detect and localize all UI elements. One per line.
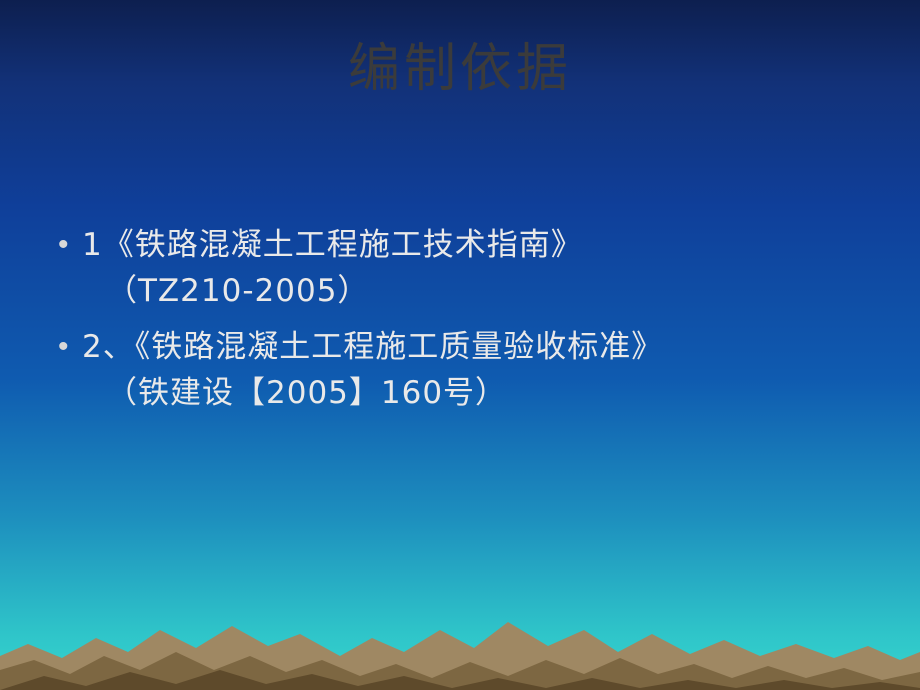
list-item: • 2、《铁路混凝土工程施工质量验收标准》 （铁建设【2005】160号） (44, 324, 894, 416)
bullet-list: • 1《铁路混凝土工程施工技术指南》 （TZ210-2005） • 2、《铁路混… (44, 222, 894, 426)
list-item-text: 1《铁路混凝土工程施工技术指南》 （TZ210-2005） (82, 222, 894, 314)
list-item-text: 2、《铁路混凝土工程施工质量验收标准》 （铁建设【2005】160号） (82, 324, 894, 416)
page-title: 编制依据 (0, 40, 920, 100)
bullet-icon: • (44, 324, 82, 370)
list-item-line1: 1《铁路混凝土工程施工技术指南》 (82, 227, 583, 263)
bullet-icon: • (44, 222, 82, 268)
mountain-silhouette-icon (0, 560, 920, 690)
list-item-line1: 2、《铁路混凝土工程施工质量验收标准》 (82, 329, 663, 365)
list-item: • 1《铁路混凝土工程施工技术指南》 （TZ210-2005） (44, 222, 894, 314)
list-item-line2: （铁建设【2005】160号） (82, 370, 894, 416)
slide: 编制依据 • 1《铁路混凝土工程施工技术指南》 （TZ210-2005） • 2… (0, 0, 920, 690)
list-item-line2: （TZ210-2005） (82, 268, 894, 314)
